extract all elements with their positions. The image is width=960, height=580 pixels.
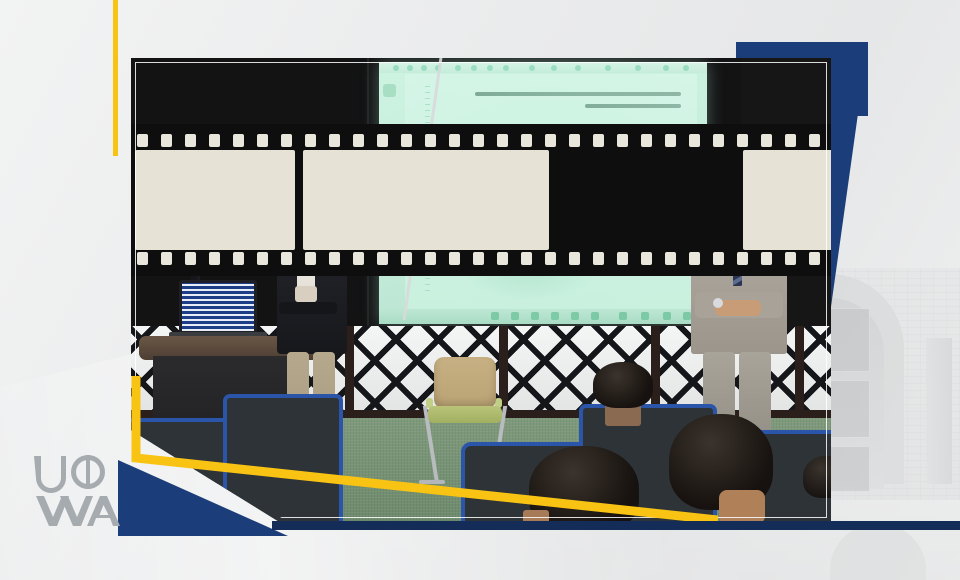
photo-scene bbox=[131, 58, 831, 522]
empty-chair bbox=[434, 357, 496, 409]
laptop bbox=[179, 280, 257, 334]
chair-seat bbox=[428, 406, 502, 423]
screenshot-canvas bbox=[0, 0, 960, 580]
audience-head bbox=[803, 456, 831, 498]
uowa-logo bbox=[30, 452, 122, 530]
dark-blue-bottom-bar bbox=[272, 521, 960, 530]
yellow-accent-line bbox=[113, 0, 118, 156]
event-photo bbox=[131, 58, 831, 522]
audience-head bbox=[593, 362, 653, 408]
